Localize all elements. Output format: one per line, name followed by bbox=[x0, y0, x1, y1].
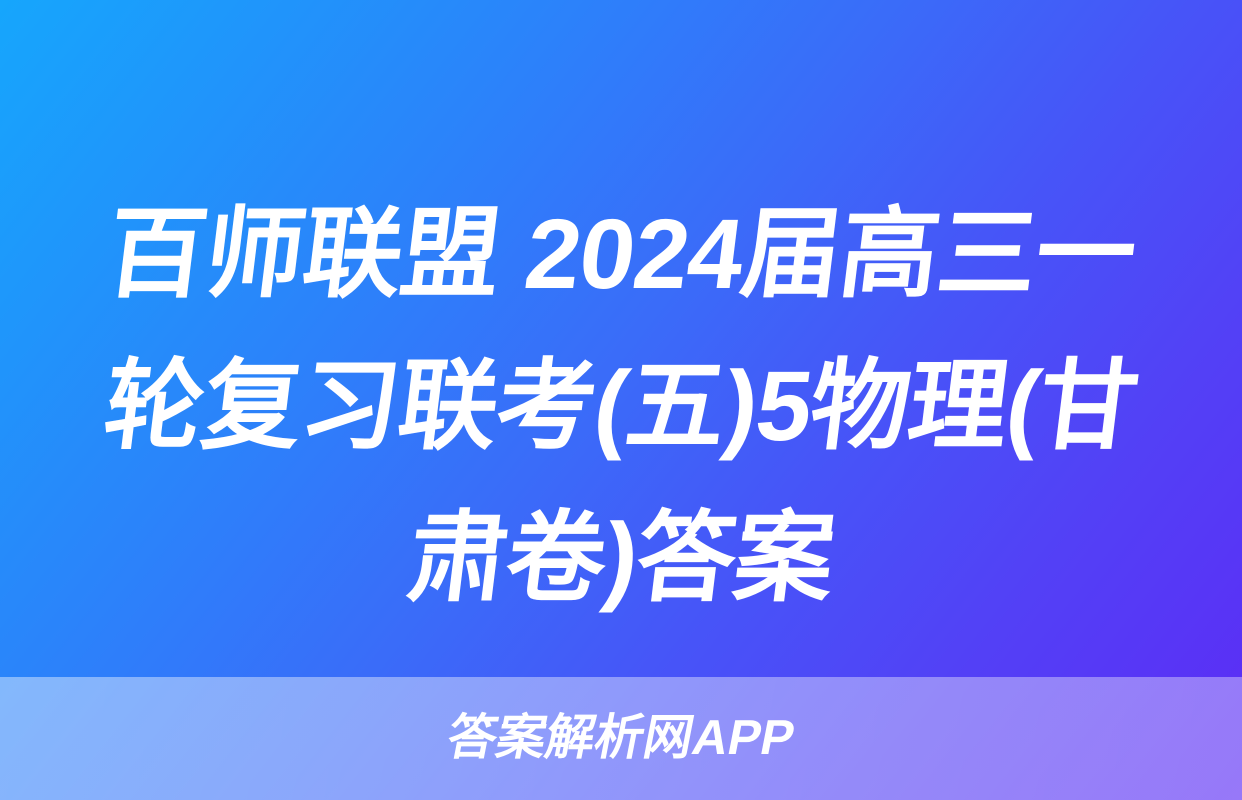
app-promo-label: 答案解析网APP bbox=[443, 714, 798, 763]
title-line-1: 百师联盟 2024届高三一 bbox=[15, 178, 1228, 330]
poster-title: 百师联盟 2024届高三一 轮复习联考(五)5物理(甘 肃卷)答案 bbox=[0, 178, 1242, 634]
title-line-3: 肃卷)答案 bbox=[15, 482, 1228, 634]
app-promo-banner[interactable]: 答案解析网APP bbox=[0, 677, 1242, 800]
title-line-2: 轮复习联考(五)5物理(甘 bbox=[15, 330, 1228, 482]
poster-canvas: 百师联盟 2024届高三一 轮复习联考(五)5物理(甘 肃卷)答案 答案解析网A… bbox=[0, 0, 1242, 800]
